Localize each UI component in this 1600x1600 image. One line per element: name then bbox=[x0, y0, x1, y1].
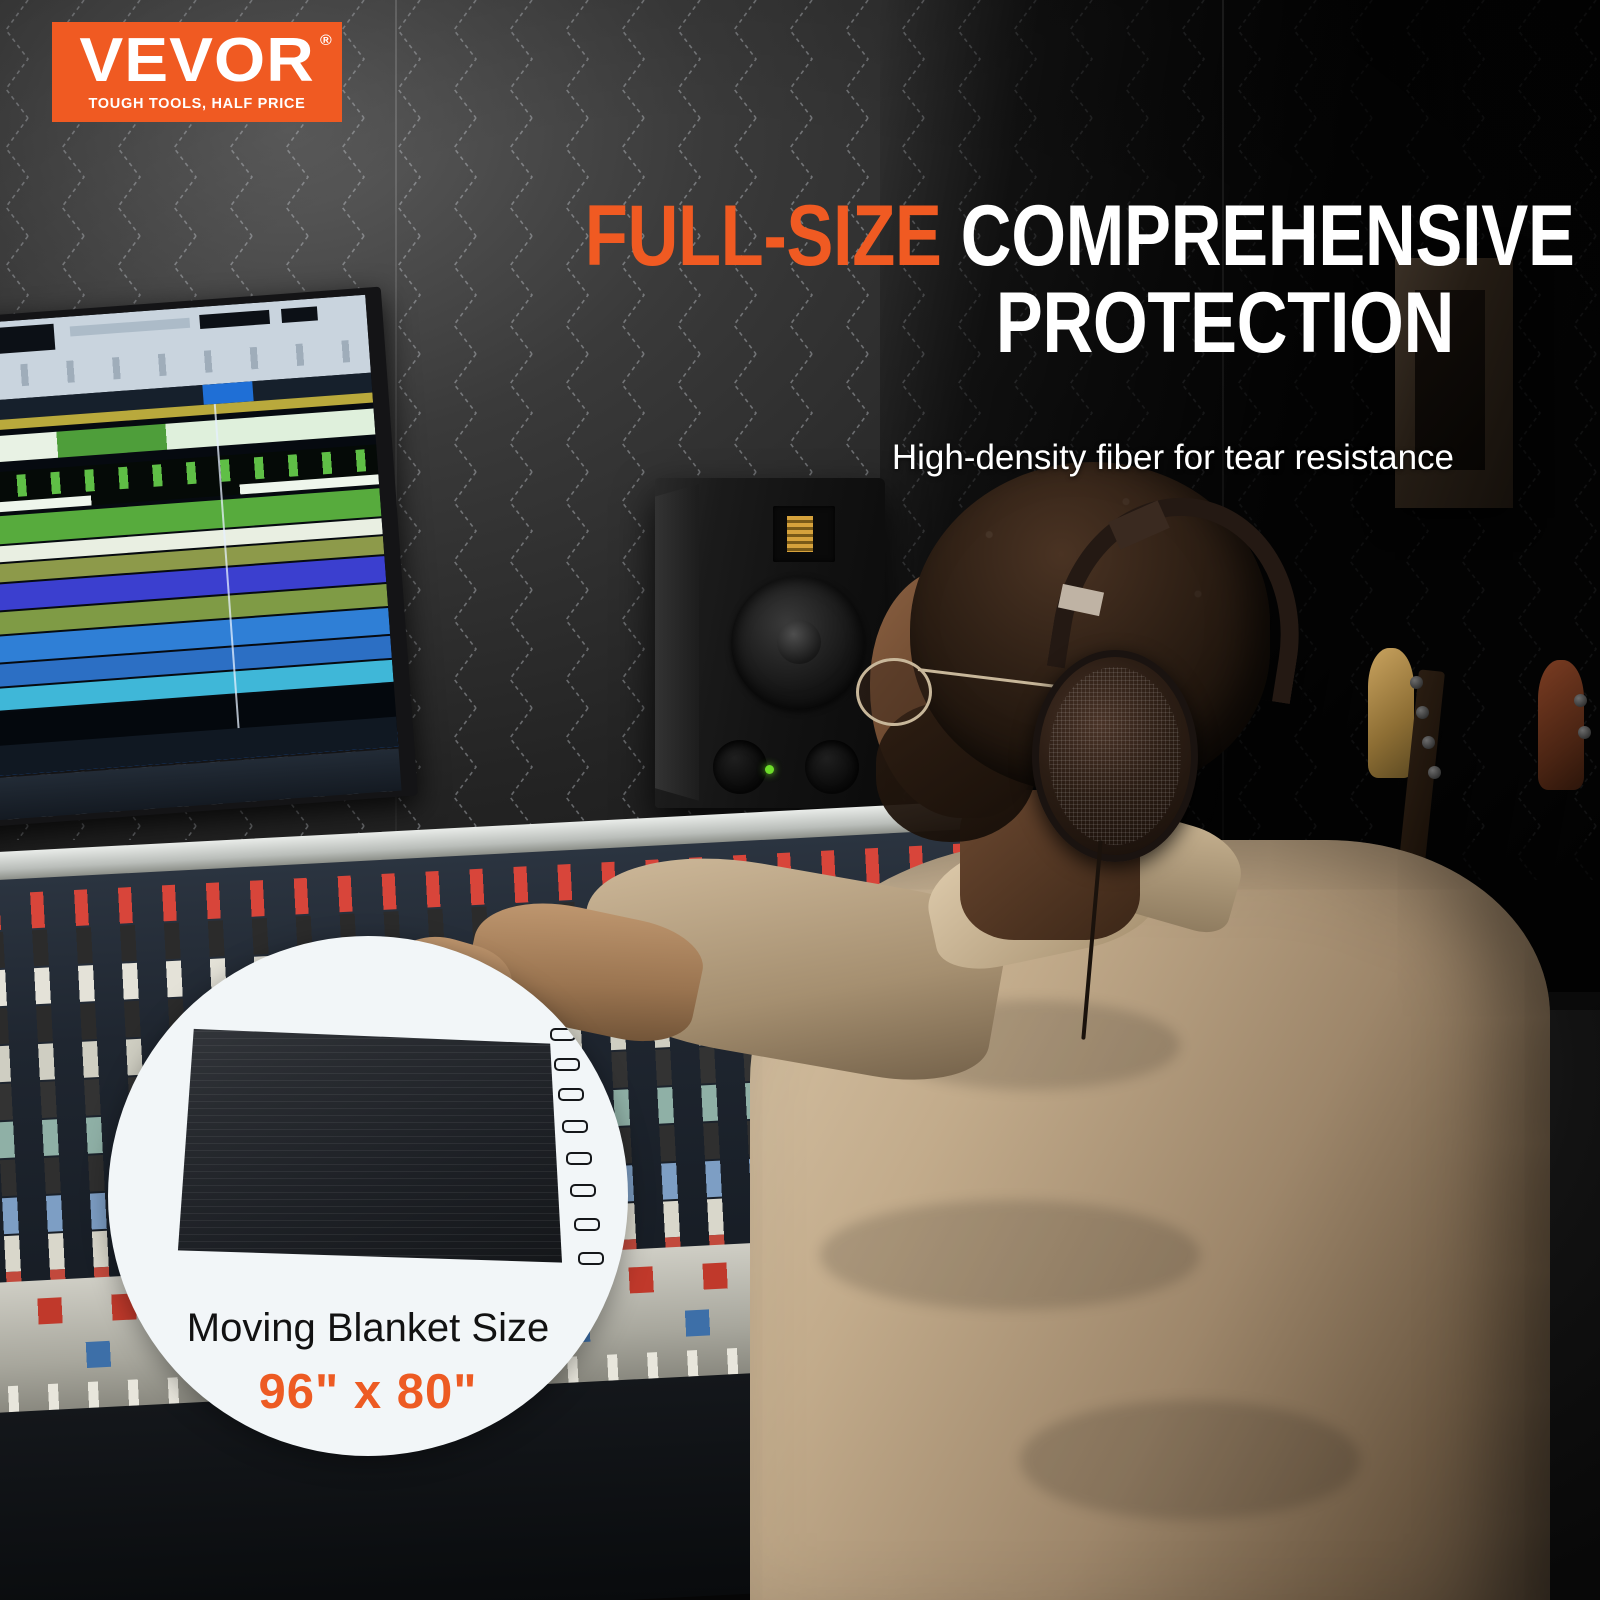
headline-highlight: FULL-SIZE bbox=[585, 188, 942, 284]
blanket-loop-tabs bbox=[548, 1028, 594, 1278]
headline-line-1: FULL-SIZE COMPREHENSIVE bbox=[585, 196, 1454, 278]
daw-button-group-a bbox=[199, 310, 270, 329]
brand-name-text: VEVOR bbox=[79, 26, 314, 95]
guitar-tuner bbox=[1578, 726, 1591, 739]
guitar-tuner bbox=[1574, 694, 1587, 707]
shirt-fold bbox=[820, 1200, 1200, 1310]
speaker-bass-port-left bbox=[713, 740, 767, 794]
blanket-tab bbox=[570, 1184, 596, 1197]
brand-name: VEVOR ® bbox=[79, 32, 314, 91]
brand-tagline: TOUGH TOOLS, HALF PRICE bbox=[89, 96, 306, 112]
daw-screen bbox=[0, 295, 398, 783]
badge-label: Moving Blanket Size bbox=[108, 1306, 628, 1351]
brand-logo: VEVOR ® TOUGH TOOLS, HALF PRICE bbox=[52, 22, 342, 122]
audio-engineer bbox=[760, 440, 1540, 1600]
size-callout-badge: Moving Blanket Size 96" x 80" bbox=[108, 936, 628, 1456]
guitar-headstock bbox=[1538, 660, 1584, 790]
moving-blanket-product-icon bbox=[170, 1024, 566, 1270]
computer-monitor bbox=[0, 287, 418, 834]
headline-line-1-rest: COMPREHENSIVE bbox=[942, 188, 1575, 284]
shirt-fold bbox=[1020, 1400, 1360, 1520]
daw-transport-display bbox=[0, 324, 55, 362]
blanket-tab bbox=[550, 1028, 576, 1041]
blanket-tab bbox=[554, 1058, 580, 1071]
blanket-tab bbox=[562, 1120, 588, 1133]
blanket-tab bbox=[578, 1252, 604, 1265]
subheadline: High-density fiber for tear resistance bbox=[892, 438, 1454, 478]
speaker-side-panel bbox=[655, 484, 699, 801]
blanket-stitch-texture bbox=[170, 1024, 566, 1270]
badge-dimensions: 96" x 80" bbox=[108, 1364, 628, 1420]
blanket-tab bbox=[558, 1088, 584, 1101]
blanket-tab bbox=[574, 1218, 600, 1231]
registered-trademark-icon: ® bbox=[320, 34, 333, 48]
product-banner: VEVOR ® TOUGH TOOLS, HALF PRICE FULL-SIZ… bbox=[0, 0, 1600, 1600]
headline-block: FULL-SIZE COMPREHENSIVE PROTECTION bbox=[394, 196, 1454, 369]
headline-line-2: PROTECTION bbox=[585, 278, 1454, 369]
headphone-earcup bbox=[1032, 650, 1198, 862]
daw-button-group-b bbox=[281, 306, 318, 323]
blanket-tab bbox=[566, 1152, 592, 1165]
headphone-mesh-grille bbox=[1049, 667, 1181, 845]
daw-toolbar-strip bbox=[70, 318, 190, 337]
daw-track-area bbox=[0, 393, 396, 754]
